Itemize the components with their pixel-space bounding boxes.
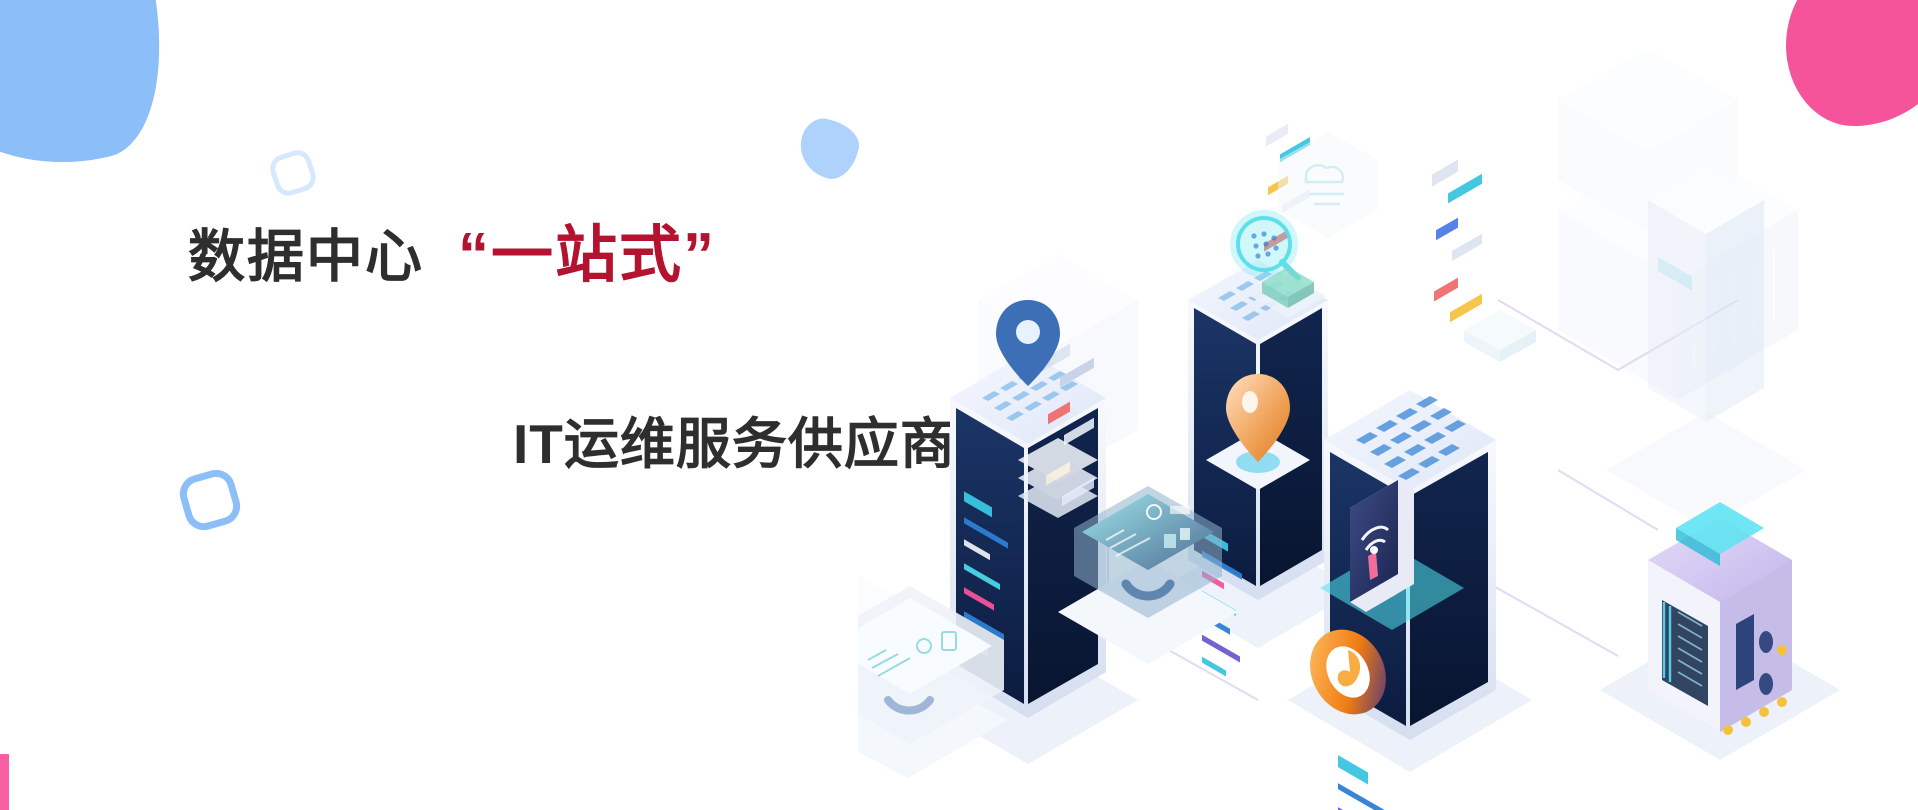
headline-line-1: 数据中心 “一站式”: [188, 225, 1088, 287]
network-connectors: [978, 300, 1738, 700]
wifi-icon: [1362, 527, 1388, 550]
headline-highlight-group: “一站式”: [458, 225, 716, 287]
server-rack-tall-faded: [1606, 166, 1806, 528]
rack-indicator-lights-left: [1202, 529, 1242, 677]
rack-vent-top: [1218, 271, 1296, 321]
page-title: 数据中心 “一站式” IT运维服务供应商: [188, 225, 1088, 479]
quote-open: “: [458, 221, 491, 290]
hero-banner: 数据中心 “一站式” IT运维服务供应商: [0, 0, 1918, 810]
monitor-right: [1058, 486, 1238, 664]
blue-blob-top-left-icon: [0, 0, 192, 204]
rack-indicator-lights-left: [1338, 755, 1384, 810]
rack-indicator-lights-left: [964, 491, 1008, 657]
location-pin: [1206, 374, 1310, 490]
headline-line-2: IT运维服务供应商: [513, 399, 1088, 479]
rack-vent-top: [1356, 396, 1466, 480]
rack-indicator-lights-right: [1264, 124, 1310, 252]
watermark-cube: [858, 552, 918, 770]
rack-indicator-lights-right: [1432, 160, 1482, 323]
tablet-wifi: [1320, 480, 1464, 630]
green-cube-node: [1250, 267, 1326, 318]
pink-accent-bar: [0, 754, 9, 810]
orange-vortex: [1296, 616, 1401, 728]
pink-blob-top-right-icon: [1786, 0, 1918, 126]
background-building-right: [1558, 48, 1798, 400]
search-node: [1230, 210, 1298, 278]
headline-highlight: 一站式: [491, 221, 683, 290]
quote-close: ”: [683, 221, 716, 290]
headline-prefix: 数据中心: [188, 227, 424, 287]
cloud-node: [1278, 132, 1378, 238]
server-rack-back-middle: [1158, 124, 1358, 677]
blue-ring-small-icon: [267, 147, 320, 200]
fan-grille: [1662, 600, 1708, 706]
blue-dot-icon: [795, 115, 864, 184]
monitor-left: [858, 586, 1008, 778]
cooling-panel-right: [1723, 614, 1787, 735]
monitor-screen-content: [1106, 505, 1190, 556]
cooling-unit: [1600, 502, 1840, 760]
floating-tiles: [1464, 310, 1536, 362]
server-rack-front-right: [1288, 160, 1532, 810]
